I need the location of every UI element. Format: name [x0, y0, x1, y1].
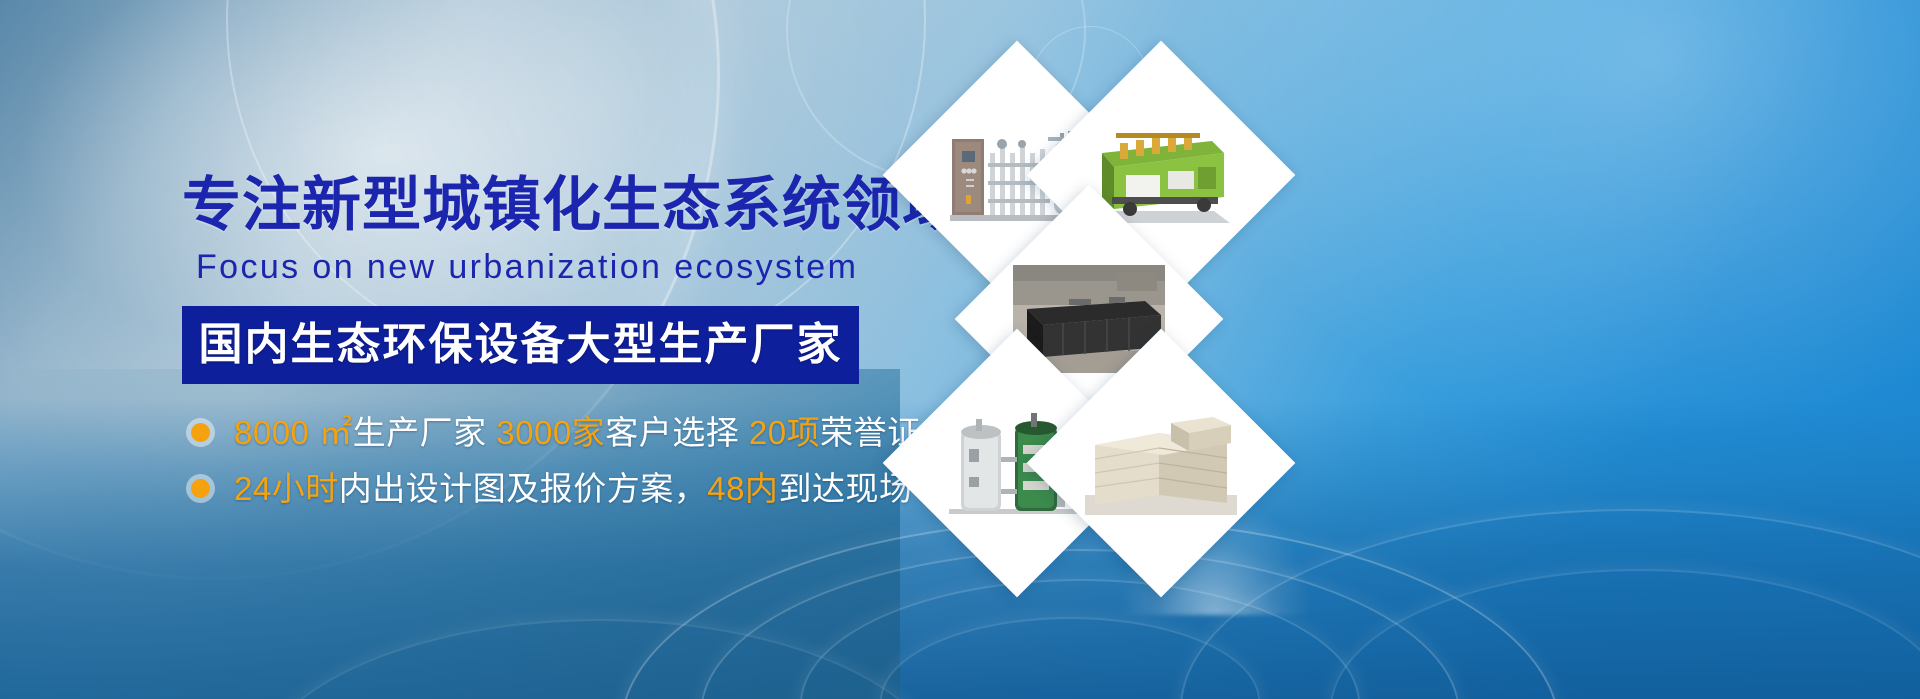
- bullet-accent-text: 24小时: [234, 470, 339, 507]
- bullet-accent-text: 20项: [749, 414, 820, 451]
- bullet-plain-text: 生产厂家: [353, 414, 497, 451]
- bullet-text: 24小时内出设计图及报价方案，48内到达现场: [234, 472, 912, 505]
- bullet-accent-text: 3000家: [496, 414, 605, 451]
- bullet-plain-text: 客户选择: [605, 414, 749, 451]
- banner-highlight-box: 国内生态环保设备大型生产厂家: [182, 306, 859, 384]
- promo-banner: 专注新型城镇化生态系统领域 Focus on new urbanization …: [0, 0, 1920, 699]
- banner-highlight-text: 国内生态环保设备大型生产厂家: [199, 323, 843, 367]
- bullet-accent-text: 8000 ㎡: [234, 414, 353, 451]
- banner-copy: 专注新型城镇化生态系统领域 Focus on new urbanization …: [182, 176, 902, 513]
- banner-headline: 专注新型城镇化生态系统领域: [182, 176, 902, 235]
- list-item: 8000 ㎡生产厂家 3000家客户选择 20项荣誉证书: [182, 407, 902, 457]
- list-item: 24小时内出设计图及报价方案，48内到达现场: [182, 463, 902, 513]
- banner-bullet-list: 8000 ㎡生产厂家 3000家客户选择 20项荣誉证书 24小时内出设计图及报…: [182, 407, 902, 513]
- bullet-plain-text: 内出设计图及报价方案，: [339, 470, 708, 507]
- banner-subheadline: Focus on new urbanization ecosystem: [196, 250, 902, 284]
- product-diamond-grid: 39 47 69: [900, 46, 1320, 516]
- bullet-text: 8000 ㎡生产厂家 3000家客户选择 20项荣誉证书: [234, 416, 954, 449]
- stacked-block-panels-photo: [1085, 411, 1237, 515]
- bullet-dot-icon: [191, 479, 210, 498]
- bullet-dot-icon: [191, 423, 210, 442]
- bullet-accent-text: 48内: [707, 470, 778, 507]
- bullet-plain-text: 到达现场: [778, 470, 912, 507]
